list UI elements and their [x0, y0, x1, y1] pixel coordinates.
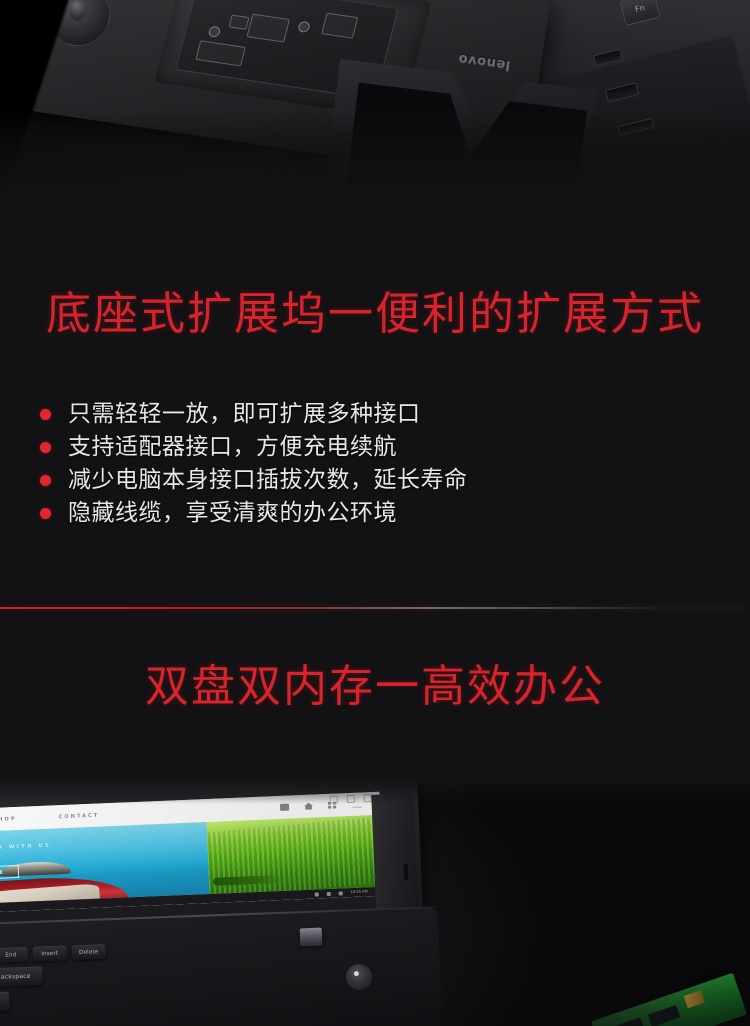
key-backspace[interactable]: Backspace	[0, 966, 43, 987]
bullet-dot-icon	[40, 409, 51, 420]
ethernet-port-icon	[195, 40, 246, 66]
dock-feature-list: 只需轻轻一放，即可扩展多种接口 支持适配器接口，方便充电续航 减少电脑本身接口插…	[40, 398, 680, 530]
taskbar-clock: 10:25 AM	[351, 890, 368, 895]
dock-product-photo: Fn lenovo	[0, 0, 750, 200]
list-item-label: 隐藏线缆，享受清爽的办公环境	[68, 502, 397, 525]
nav-link-contact[interactable]: CONTACT	[59, 812, 100, 820]
list-item: 支持适配器接口，方便充电续航	[40, 431, 680, 464]
audio-port-icon	[297, 21, 311, 33]
bezel-vent-icon	[404, 864, 409, 880]
dock-section-headline: 底座式扩展坞一便利的扩展方式	[0, 291, 750, 336]
list-item-label: 支持适配器接口，方便充电续航	[68, 436, 397, 459]
key-backslash[interactable]: \	[0, 992, 10, 1012]
power-port-icon	[208, 26, 222, 38]
display-port-icon	[246, 14, 290, 43]
memory-chip-icon	[608, 1017, 644, 1026]
list-item: 只需轻轻一放，即可扩展多种接口	[40, 398, 680, 431]
key-end[interactable]: End	[0, 947, 28, 963]
taskbar-tray: 10:25 AM	[315, 890, 368, 896]
list-item: 减少电脑本身接口插拔次数，延长寿命	[40, 464, 680, 497]
key-delete[interactable]: Delete	[71, 944, 106, 960]
keyboard-letter-row: W E R T Y U I O P [ ] \	[0, 980, 327, 1023]
list-item-label: 减少电脑本身接口插拔次数，延长寿命	[68, 469, 468, 492]
volume-icon[interactable]	[327, 891, 331, 895]
memory-contacts-icon	[684, 990, 705, 1008]
bullet-dot-icon	[40, 508, 51, 519]
usb-port-icon	[228, 15, 249, 30]
list-item-label: 只需轻轻一放，即可扩展多种接口	[68, 403, 421, 426]
photo-bottom-fade	[0, 110, 750, 200]
network-icon[interactable]	[315, 892, 319, 896]
bullet-dot-icon	[40, 442, 51, 453]
key-insert[interactable]: Insert	[33, 945, 68, 961]
nav-link-shop[interactable]: SHOP	[0, 815, 17, 822]
battery-icon[interactable]	[339, 891, 343, 895]
hero-title: DISCOVER THE WORLD WITH US	[0, 836, 207, 862]
section-divider	[0, 607, 750, 609]
display-port-icon	[321, 13, 358, 39]
list-item: 隐藏线缆，享受清爽的办公环境	[40, 497, 680, 530]
storage-section-headline: 双盘双内存一高效办公	[0, 665, 750, 709]
laptop-keyboard: F1 F2 F3 F4 F5 F6 F7 F8 F9 F10 Home End …	[0, 936, 327, 1026]
slide-thumbnail-right-field[interactable]	[207, 815, 384, 894]
product-detail-page: Fn lenovo 底座式扩展坞一便利的扩展方式 只需轻轻一放，即可扩展多种接口	[0, 0, 750, 1026]
photo-top-fade	[0, 778, 750, 804]
laptop-product-photo: BLOG PLACES TRAVEL TIPS SHOP CONTACT	[0, 778, 750, 1026]
bullet-dot-icon	[40, 475, 51, 486]
memory-chip-icon	[648, 1005, 681, 1026]
chat-icon[interactable]	[280, 804, 289, 811]
